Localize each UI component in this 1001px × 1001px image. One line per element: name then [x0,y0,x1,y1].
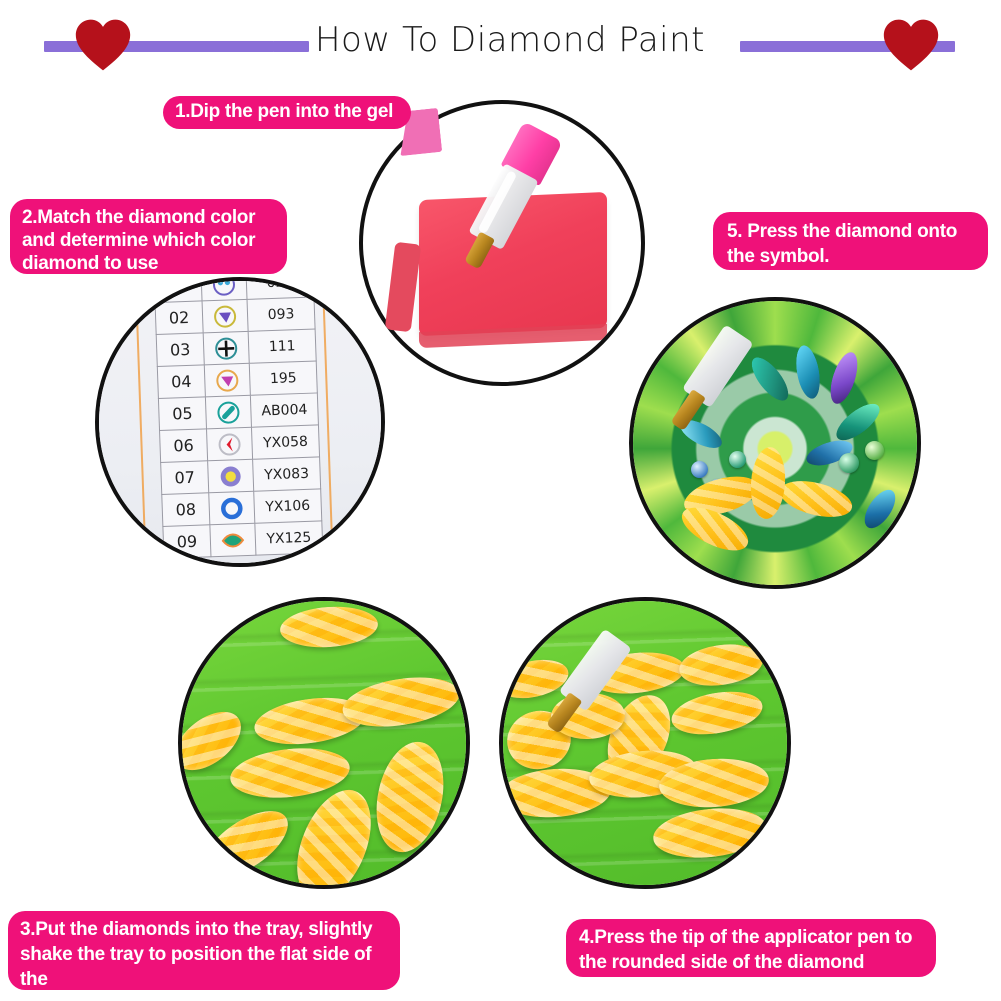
table-row: 09 YX125 [163,521,323,559]
row-no: 06 [160,429,208,463]
step-2-photo: 01 020 02 093 03 [95,277,385,567]
row-code: YX058 [251,425,319,459]
step-5-photo [629,297,921,589]
row-no: 01 [154,277,202,303]
step-5-line-1: 5. Press the diamond onto [727,219,974,244]
row-symbol [203,331,249,365]
pen-tip [464,232,495,270]
step-2-label: 2.Match the diamond color and determine … [10,199,287,274]
row-symbol [202,299,248,333]
row-no: 03 [156,333,204,367]
step-4-line-1: 4.Press the tip of the applicator pen to [579,925,923,950]
row-no: 05 [158,397,206,431]
row-no: 04 [157,365,205,399]
heart-icon [74,17,132,73]
color-legend-chart: 01 020 02 093 03 [95,277,385,567]
page-title: How To Diamond Paint [300,18,720,62]
infographic-page: How To Diamond Paint 1.Dip the pen into … [0,0,1001,1001]
chart-guide-line [322,277,335,567]
step-5-line-2: the symbol. [727,244,974,269]
step-2-line-2: and determine which color [22,229,275,252]
page-header: How To Diamond Paint [0,0,1001,80]
step-3-label: 3.Put the diamonds into the tray, slight… [8,911,400,990]
legend-table: 01 020 02 093 03 [153,277,323,559]
row-symbol [201,277,247,301]
row-no: 07 [161,461,209,495]
row-code: YX083 [253,457,321,491]
rhinestone [839,453,859,473]
row-symbol [207,427,253,461]
step-3-line-2: shake the tray to position the flat side… [20,942,388,992]
row-code: 111 [248,329,316,363]
row-no: 09 [163,525,211,559]
step-4-label: 4.Press the tip of the applicator pen to… [566,919,936,977]
step-5-label: 5. Press the diamond onto the symbol. [713,212,988,270]
row-symbol [209,491,255,525]
row-code: YX125 [255,521,323,555]
rhinestone [691,461,708,478]
row-symbol [204,363,250,397]
row-code: AB004 [250,393,318,427]
rhinestone [865,441,884,460]
row-code: 195 [249,361,317,395]
step-4-photo [499,597,791,889]
step-4-line-2: the rounded side of the diamond [579,950,923,975]
row-symbol [205,395,251,429]
chart-guide-line [135,279,148,567]
row-code: 093 [247,297,315,331]
row-no: 02 [155,301,203,335]
row-no: 08 [162,493,210,527]
step-3-line-1: 3.Put the diamonds into the tray, slight… [20,917,388,942]
row-code: YX106 [254,489,322,523]
step-1-label: 1.Dip the pen into the gel [163,96,411,129]
row-symbol [210,523,256,557]
step-1-line-1: 1.Dip the pen into the gel [175,101,399,123]
row-code: 020 [246,277,314,299]
step-3-photo [178,597,470,889]
heart-icon [882,17,940,73]
step-3-line-3: diamond down [20,992,388,1001]
row-symbol [208,459,254,493]
rhinestone [729,451,746,468]
step-2-line-1: 2.Match the diamond color [22,206,275,229]
step-2-line-3: diamond to use [22,252,275,275]
gel-pad-edge-accent [390,243,430,338]
